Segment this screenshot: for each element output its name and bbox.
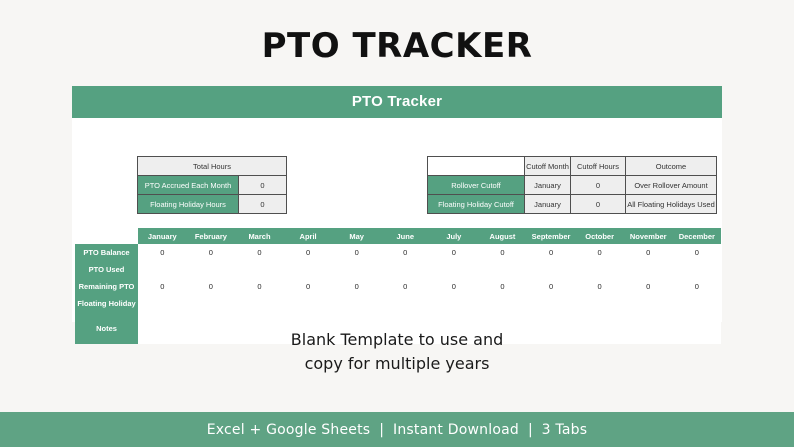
table-row: Floating Holiday [75, 295, 721, 312]
month-header-row: January February March April May June Ju… [75, 228, 721, 244]
cell-floating-holiday-january[interactable] [138, 295, 187, 312]
month-header-december: December [673, 228, 722, 244]
cell-floating-holiday-october[interactable] [575, 295, 624, 312]
floating-holiday-hours-label: Floating Holiday Hours [138, 195, 239, 214]
cell-floating-holiday-february[interactable] [187, 295, 236, 312]
caption-line-1: Blank Template to use and [0, 328, 794, 352]
cell-remaining-pto-september[interactable]: 0 [527, 278, 576, 295]
month-grid-table: January February March April May June Ju… [75, 228, 721, 344]
cell-remaining-pto-december[interactable]: 0 [673, 278, 722, 295]
month-header-june: June [381, 228, 430, 244]
cell-pto-used-march[interactable] [235, 261, 284, 278]
cell-floating-holiday-may[interactable] [332, 295, 381, 312]
footer-item-3-tabs: 3 Tabs [542, 422, 588, 438]
cell-pto-used-august[interactable] [478, 261, 527, 278]
cell-floating-holiday-april[interactable] [284, 295, 333, 312]
cell-pto-balance-november[interactable]: 0 [624, 244, 673, 261]
cell-pto-used-january[interactable] [138, 261, 187, 278]
cutoff-corner-cell [428, 157, 525, 176]
caption-block: Blank Template to use and copy for multi… [0, 328, 794, 376]
cell-floating-holiday-june[interactable] [381, 295, 430, 312]
table-row: Floating Holiday Cutoff January 0 All Fl… [428, 195, 717, 214]
floating-holiday-hours-value[interactable]: 0 [239, 195, 287, 214]
cell-remaining-pto-april[interactable]: 0 [284, 278, 333, 295]
cell-pto-balance-january[interactable]: 0 [138, 244, 187, 261]
month-header-october: October [575, 228, 624, 244]
table-row: Floating Holiday Hours 0 [138, 195, 287, 214]
cell-remaining-pto-october[interactable]: 0 [575, 278, 624, 295]
month-header-march: March [235, 228, 284, 244]
row-label-floating-holiday: Floating Holiday [75, 295, 138, 312]
cell-remaining-pto-may[interactable]: 0 [332, 278, 381, 295]
cutoff-hours-header: Cutoff Hours [571, 157, 626, 176]
cell-remaining-pto-january[interactable]: 0 [138, 278, 187, 295]
pto-accrued-label: PTO Accrued Each Month [138, 176, 239, 195]
cell-pto-balance-february[interactable]: 0 [187, 244, 236, 261]
cell-floating-holiday-september[interactable] [527, 295, 576, 312]
month-header-july: July [430, 228, 479, 244]
cell-remaining-pto-july[interactable]: 0 [430, 278, 479, 295]
row-label-remaining-pto: Remaining PTO [75, 278, 138, 295]
floating-holiday-cutoff-outcome[interactable]: All Floating Holidays Used [626, 195, 717, 214]
cell-floating-holiday-november[interactable] [624, 295, 673, 312]
cell-pto-balance-april[interactable]: 0 [284, 244, 333, 261]
rollover-cutoff-month[interactable]: January [525, 176, 571, 195]
row-label-pto-used: PTO Used [75, 261, 138, 278]
month-header-february: February [187, 228, 236, 244]
rollover-cutoff-outcome[interactable]: Over Rollover Amount [626, 176, 717, 195]
month-header-august: August [478, 228, 527, 244]
cutoff-month-header: Cutoff Month [525, 157, 571, 176]
cell-pto-balance-september[interactable]: 0 [527, 244, 576, 261]
table-row: Cutoff Month Cutoff Hours Outcome [428, 157, 717, 176]
month-header-april: April [284, 228, 333, 244]
footer-item-excel-google-sheets: Excel + Google Sheets [207, 422, 371, 438]
pto-accrued-value[interactable]: 0 [239, 176, 287, 195]
cutoff-table: Cutoff Month Cutoff Hours Outcome Rollov… [427, 156, 717, 214]
cell-remaining-pto-march[interactable]: 0 [235, 278, 284, 295]
cell-floating-holiday-august[interactable] [478, 295, 527, 312]
row-label-pto-balance: PTO Balance [75, 244, 138, 261]
cutoff-outcome-header: Outcome [626, 157, 717, 176]
table-row: Total Hours [138, 157, 287, 176]
cell-floating-holiday-july[interactable] [430, 295, 479, 312]
cell-pto-balance-march[interactable]: 0 [235, 244, 284, 261]
cell-pto-used-may[interactable] [332, 261, 381, 278]
rollover-cutoff-hours[interactable]: 0 [571, 176, 626, 195]
table-row: Remaining PTO 0 0 0 0 0 0 0 0 0 0 0 0 [75, 278, 721, 295]
cell-pto-used-february[interactable] [187, 261, 236, 278]
floating-holiday-cutoff-month[interactable]: January [525, 195, 571, 214]
cell-pto-used-april[interactable] [284, 261, 333, 278]
sheet-body: Total Hours PTO Accrued Each Month 0 Flo… [72, 118, 722, 322]
month-header-september: September [527, 228, 576, 244]
cell-pto-balance-december[interactable]: 0 [673, 244, 722, 261]
table-row: PTO Balance 0 0 0 0 0 0 0 0 0 0 0 0 [75, 244, 721, 261]
total-hours-table: Total Hours PTO Accrued Each Month 0 Flo… [137, 156, 287, 214]
month-header-november: November [624, 228, 673, 244]
rollover-cutoff-label: Rollover Cutoff [428, 176, 525, 195]
page-title: PTO TRACKER [0, 26, 794, 66]
cell-pto-used-november[interactable] [624, 261, 673, 278]
footer-bar: Excel + Google Sheets | Instant Download… [0, 412, 794, 447]
month-header-may: May [332, 228, 381, 244]
pto-tracker-sheet: PTO Tracker Total Hours PTO Accrued Each… [72, 86, 722, 322]
cell-pto-balance-july[interactable]: 0 [430, 244, 479, 261]
cell-pto-used-june[interactable] [381, 261, 430, 278]
cell-pto-used-september[interactable] [527, 261, 576, 278]
table-row: PTO Used [75, 261, 721, 278]
sheet-header-title: PTO Tracker [72, 86, 722, 118]
cell-pto-used-july[interactable] [430, 261, 479, 278]
table-row: Rollover Cutoff January 0 Over Rollover … [428, 176, 717, 195]
cell-floating-holiday-december[interactable] [673, 295, 722, 312]
total-hours-title: Total Hours [138, 157, 287, 176]
cell-floating-holiday-march[interactable] [235, 295, 284, 312]
cell-remaining-pto-february[interactable]: 0 [187, 278, 236, 295]
cell-pto-used-december[interactable] [673, 261, 722, 278]
month-grid-corner-cell [75, 228, 138, 244]
footer-separator-2: | [519, 422, 542, 438]
cell-pto-balance-august[interactable]: 0 [478, 244, 527, 261]
cell-remaining-pto-august[interactable]: 0 [478, 278, 527, 295]
floating-holiday-cutoff-label: Floating Holiday Cutoff [428, 195, 525, 214]
month-header-january: January [138, 228, 187, 244]
floating-holiday-cutoff-hours[interactable]: 0 [571, 195, 626, 214]
footer-separator-1: | [370, 422, 393, 438]
cell-pto-balance-june[interactable]: 0 [381, 244, 430, 261]
footer-item-instant-download: Instant Download [393, 422, 519, 438]
cell-remaining-pto-november[interactable]: 0 [624, 278, 673, 295]
table-row: PTO Accrued Each Month 0 [138, 176, 287, 195]
cell-pto-balance-may[interactable]: 0 [332, 244, 381, 261]
caption-line-2: copy for multiple years [0, 352, 794, 376]
cell-pto-balance-october[interactable]: 0 [575, 244, 624, 261]
cell-pto-used-october[interactable] [575, 261, 624, 278]
cell-remaining-pto-june[interactable]: 0 [381, 278, 430, 295]
